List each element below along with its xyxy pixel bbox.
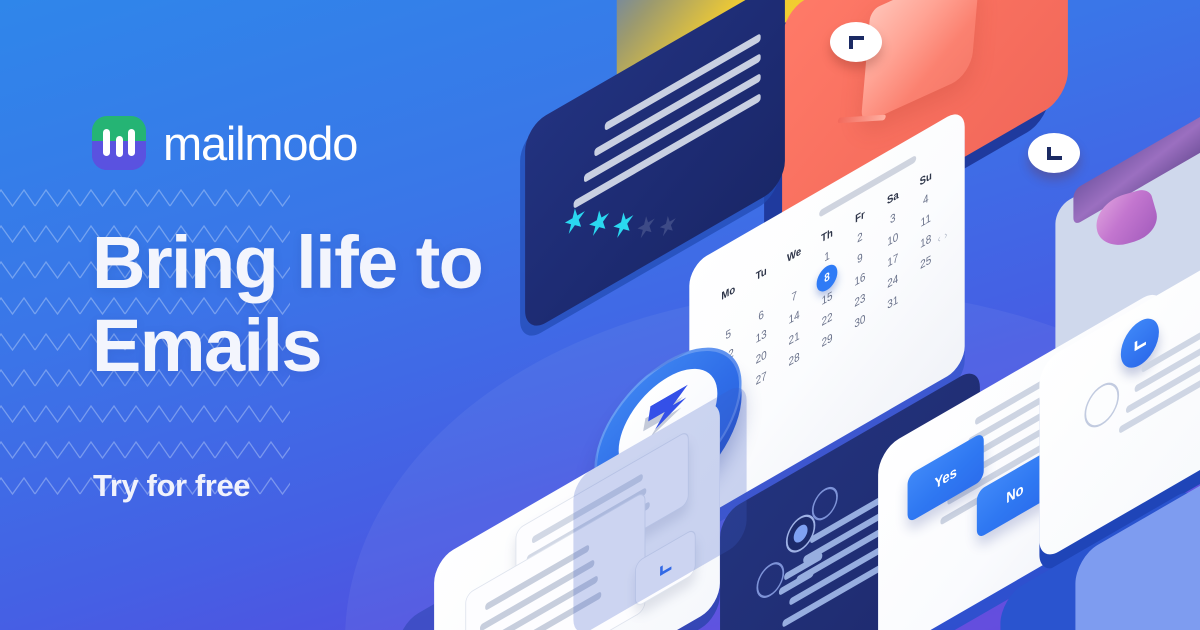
star-icon-empty: ★ (658, 209, 677, 244)
crop-handle-top-left[interactable] (830, 22, 882, 62)
banner-canvas: ★ ★ ★ ★ ★ ‹› MoTuWeThFrSaSu 123456789101… (0, 0, 1200, 630)
star-icon-filled: ★ (563, 200, 586, 243)
coral-stem-shape (837, 115, 886, 124)
checkbox-unchecked[interactable] (1084, 375, 1119, 435)
yes-button[interactable]: Yes (908, 432, 984, 524)
cta-label[interactable]: Try for free (93, 468, 250, 504)
coral-blob-shape (861, 0, 981, 125)
star-icon-filled: ★ (587, 202, 610, 245)
check-icon (1134, 335, 1145, 350)
radio-option-3[interactable] (812, 481, 838, 526)
star-icon-empty: ★ (636, 207, 656, 245)
page-title: Bring life to Emails (92, 222, 482, 388)
brand-logo[interactable]: mailmodo (92, 116, 357, 170)
logo-bar-3 (128, 129, 135, 156)
corner-bracket-icon (1047, 147, 1062, 160)
logo-bar-2 (116, 136, 123, 157)
crop-handle-bottom-right[interactable] (1028, 133, 1080, 173)
radio-option-1[interactable] (756, 556, 784, 604)
logo-bar-1 (103, 129, 110, 156)
corner-bracket-icon (849, 36, 864, 49)
star-icon-filled: ★ (612, 203, 635, 246)
brand-wordmark: mailmodo (163, 120, 357, 167)
calendar-next-icon[interactable]: › (944, 227, 951, 243)
mailmodo-bars-icon (92, 116, 146, 170)
